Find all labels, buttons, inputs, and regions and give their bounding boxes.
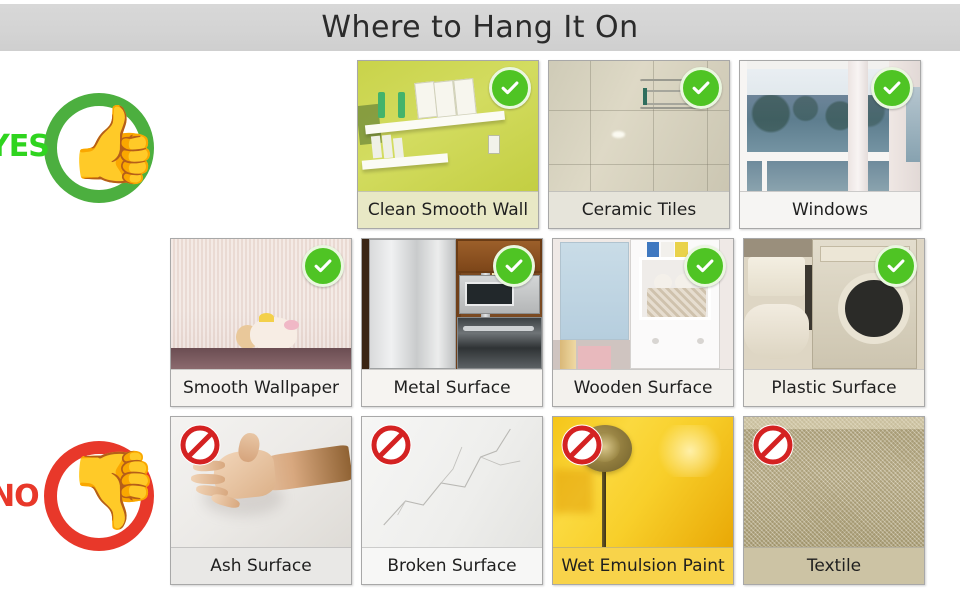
prohibition-icon — [369, 423, 413, 467]
surface-card-label: Clean Smooth Wall — [358, 191, 538, 228]
surface-card[interactable]: Wet Emulsion Paint — [552, 416, 734, 585]
surface-card[interactable]: Windows — [739, 60, 921, 229]
surface-card-label: Wet Emulsion Paint — [553, 547, 733, 584]
surface-card-label: Wooden Surface — [553, 369, 733, 406]
surface-row-3: Ash SurfaceBroken SurfaceWet Emulsion Pa… — [170, 416, 925, 585]
surface-card[interactable]: Metal Surface — [361, 238, 543, 407]
surface-photo — [744, 239, 924, 369]
verdict-badge-yes: 👍 YES — [0, 85, 170, 215]
surface-card[interactable]: Ash Surface — [170, 416, 352, 585]
check-circle-icon — [871, 67, 913, 109]
surface-photo — [740, 61, 920, 191]
surface-card-label: Ceramic Tiles — [549, 191, 729, 228]
surface-photo — [549, 61, 729, 191]
check-circle-icon — [684, 245, 726, 287]
surface-card-label: Smooth Wallpaper — [171, 369, 351, 406]
surface-card-label: Plastic Surface — [744, 369, 924, 406]
surface-photo — [553, 239, 733, 369]
surface-photo — [171, 417, 351, 547]
verdict-yes-label: YES — [0, 129, 49, 164]
surface-photo — [358, 61, 538, 191]
surface-card[interactable]: Textile — [743, 416, 925, 585]
surface-photo — [553, 417, 733, 547]
surface-card-label: Windows — [740, 191, 920, 228]
surface-card-label: Broken Surface — [362, 547, 542, 584]
header-banner: Where to Hang It On — [0, 4, 960, 51]
prohibition-icon — [751, 423, 795, 467]
surface-card[interactable]: Wooden Surface — [552, 238, 734, 407]
thumbs-up-icon: 👍 — [66, 107, 161, 183]
check-circle-icon — [302, 245, 344, 287]
surface-card[interactable]: Smooth Wallpaper — [170, 238, 352, 407]
surface-card-label: Textile — [744, 547, 924, 584]
prohibition-icon — [560, 423, 604, 467]
thumbs-down-icon: 👎 — [66, 453, 161, 529]
check-circle-icon — [489, 67, 531, 109]
surface-card[interactable]: Clean Smooth Wall — [357, 60, 539, 229]
surface-photo — [171, 239, 351, 369]
surface-card[interactable]: Ceramic Tiles — [548, 60, 730, 229]
surface-card[interactable]: Plastic Surface — [743, 238, 925, 407]
surface-card-label: Ash Surface — [171, 547, 351, 584]
page-title: Where to Hang It On — [321, 10, 638, 45]
verdict-badge-no: 👎 NO — [0, 433, 170, 563]
surface-row-2: Smooth WallpaperMetal SurfaceWooden Surf… — [170, 238, 925, 407]
verdict-no-label: NO — [0, 479, 39, 514]
surface-photo — [744, 417, 924, 547]
check-circle-icon — [875, 245, 917, 287]
surface-photo — [362, 417, 542, 547]
surface-row-1: Clean Smooth WallCeramic TilesWindows — [357, 60, 921, 229]
surface-card-label: Metal Surface — [362, 369, 542, 406]
check-circle-icon — [680, 67, 722, 109]
check-circle-icon — [493, 245, 535, 287]
surface-photo — [362, 239, 542, 369]
prohibition-icon — [178, 423, 222, 467]
surface-card[interactable]: Broken Surface — [361, 416, 543, 585]
